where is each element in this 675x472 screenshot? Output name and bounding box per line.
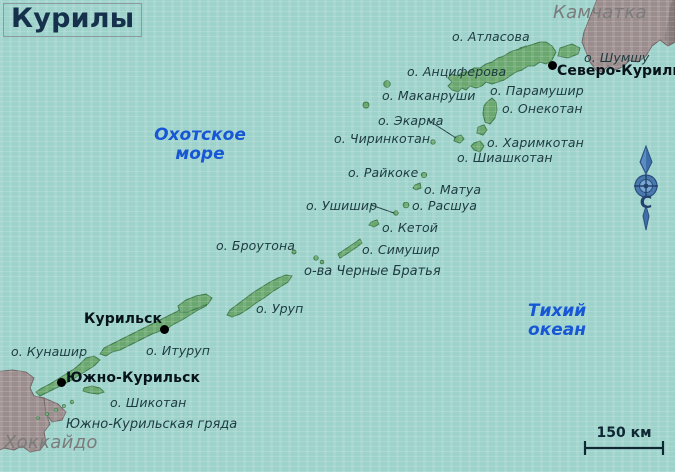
island-raikoke	[421, 172, 426, 177]
island-rasshua	[403, 202, 409, 208]
compass-north-letter: С	[640, 193, 652, 213]
island-habomai-1	[70, 400, 74, 404]
island-chernye-bratya-2	[320, 260, 324, 264]
island-habomai-2	[62, 404, 65, 407]
island-chernye-bratya-1	[314, 256, 318, 260]
scale-bar: 150 км	[580, 420, 668, 460]
island-broutona	[292, 250, 296, 254]
city-dot-severo-kurilsk	[548, 61, 557, 70]
island-ushishir	[394, 211, 398, 215]
page-title: Курилы	[11, 5, 134, 33]
sea-background	[0, 0, 675, 472]
island-habomai-5	[37, 417, 40, 420]
island-antsiferova	[384, 81, 390, 87]
island-habomai-4	[45, 412, 48, 415]
map-title-box: Курилы	[3, 3, 142, 37]
map-geometry-layer	[0, 0, 675, 472]
island-chirinkotan	[431, 140, 435, 144]
scale-bar-label: 150 км	[596, 425, 651, 441]
city-dot-kurilsk	[160, 325, 169, 334]
island-makanrushi	[363, 102, 369, 108]
compass-rose: С	[626, 144, 666, 232]
island-habomai-3	[54, 408, 58, 412]
kuril-islands-map: Курилы Охотское море Тихий океан Камчатк…	[0, 0, 675, 472]
city-dot-yuzhno-kurilsk	[57, 378, 66, 387]
